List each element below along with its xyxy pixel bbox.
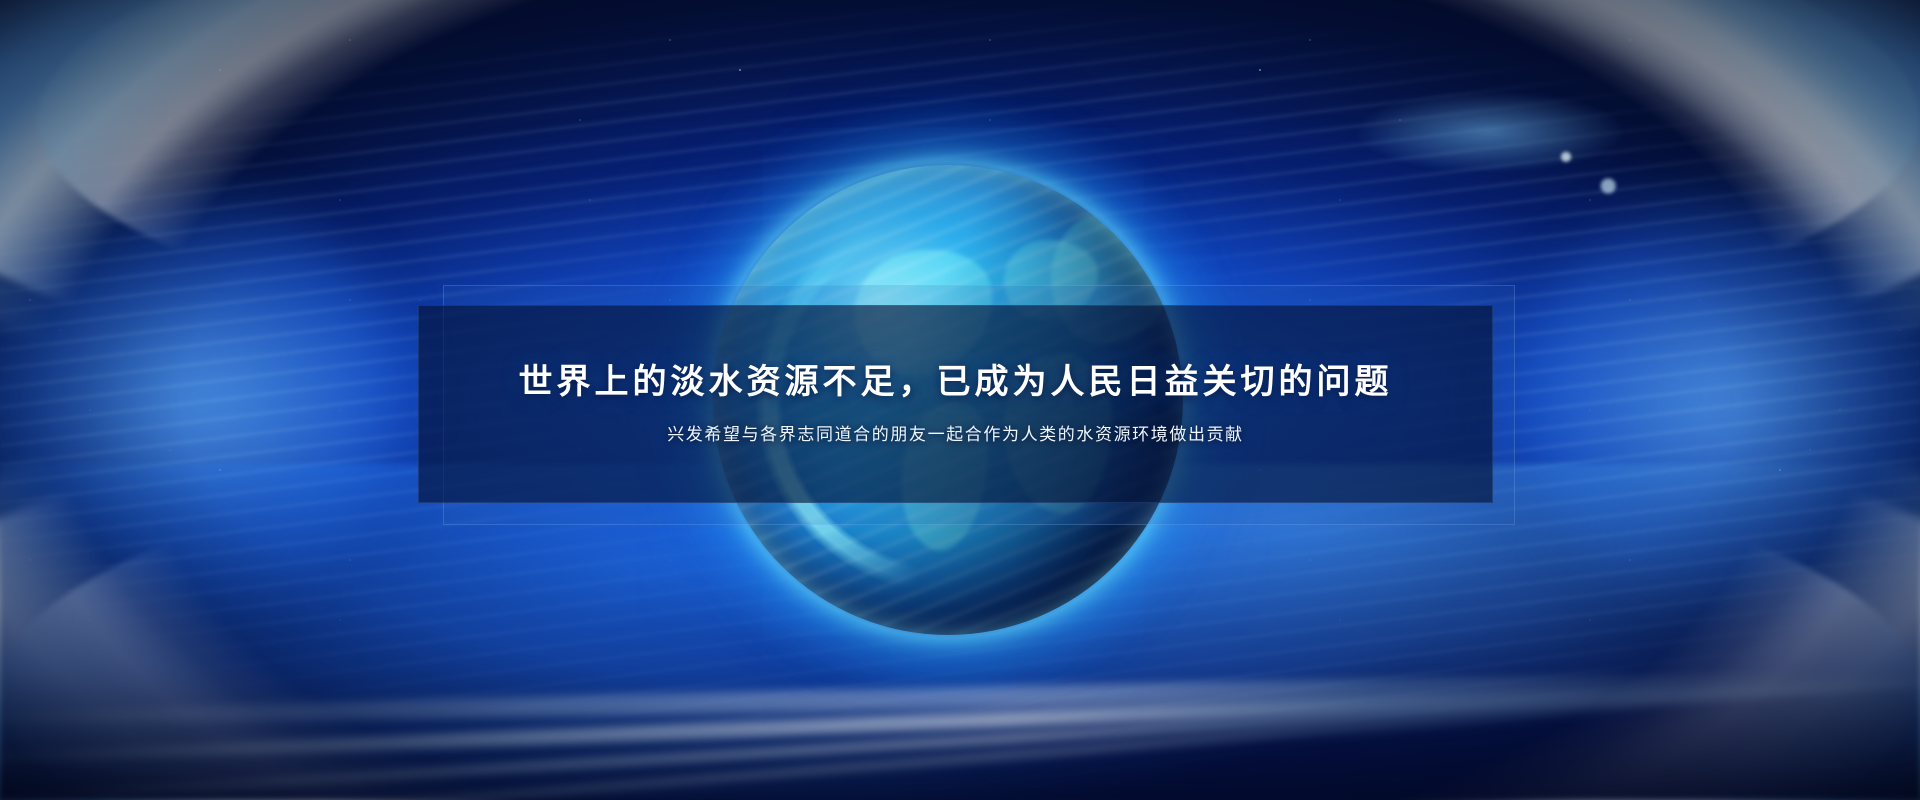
hero-banner: 世界上的淡水资源不足，已成为人民日益关切的问题 兴发希望与各界志同道合的朋友一起…: [0, 0, 1920, 800]
caption-panel: 世界上的淡水资源不足，已成为人民日益关切的问题 兴发希望与各界志同道合的朋友一起…: [418, 305, 1493, 503]
banner-subheadline: 兴发希望与各界志同道合的朋友一起合作为人类的水资源环境做出贡献: [667, 423, 1244, 447]
banner-headline: 世界上的淡水资源不足，已成为人民日益关切的问题: [519, 362, 1393, 403]
